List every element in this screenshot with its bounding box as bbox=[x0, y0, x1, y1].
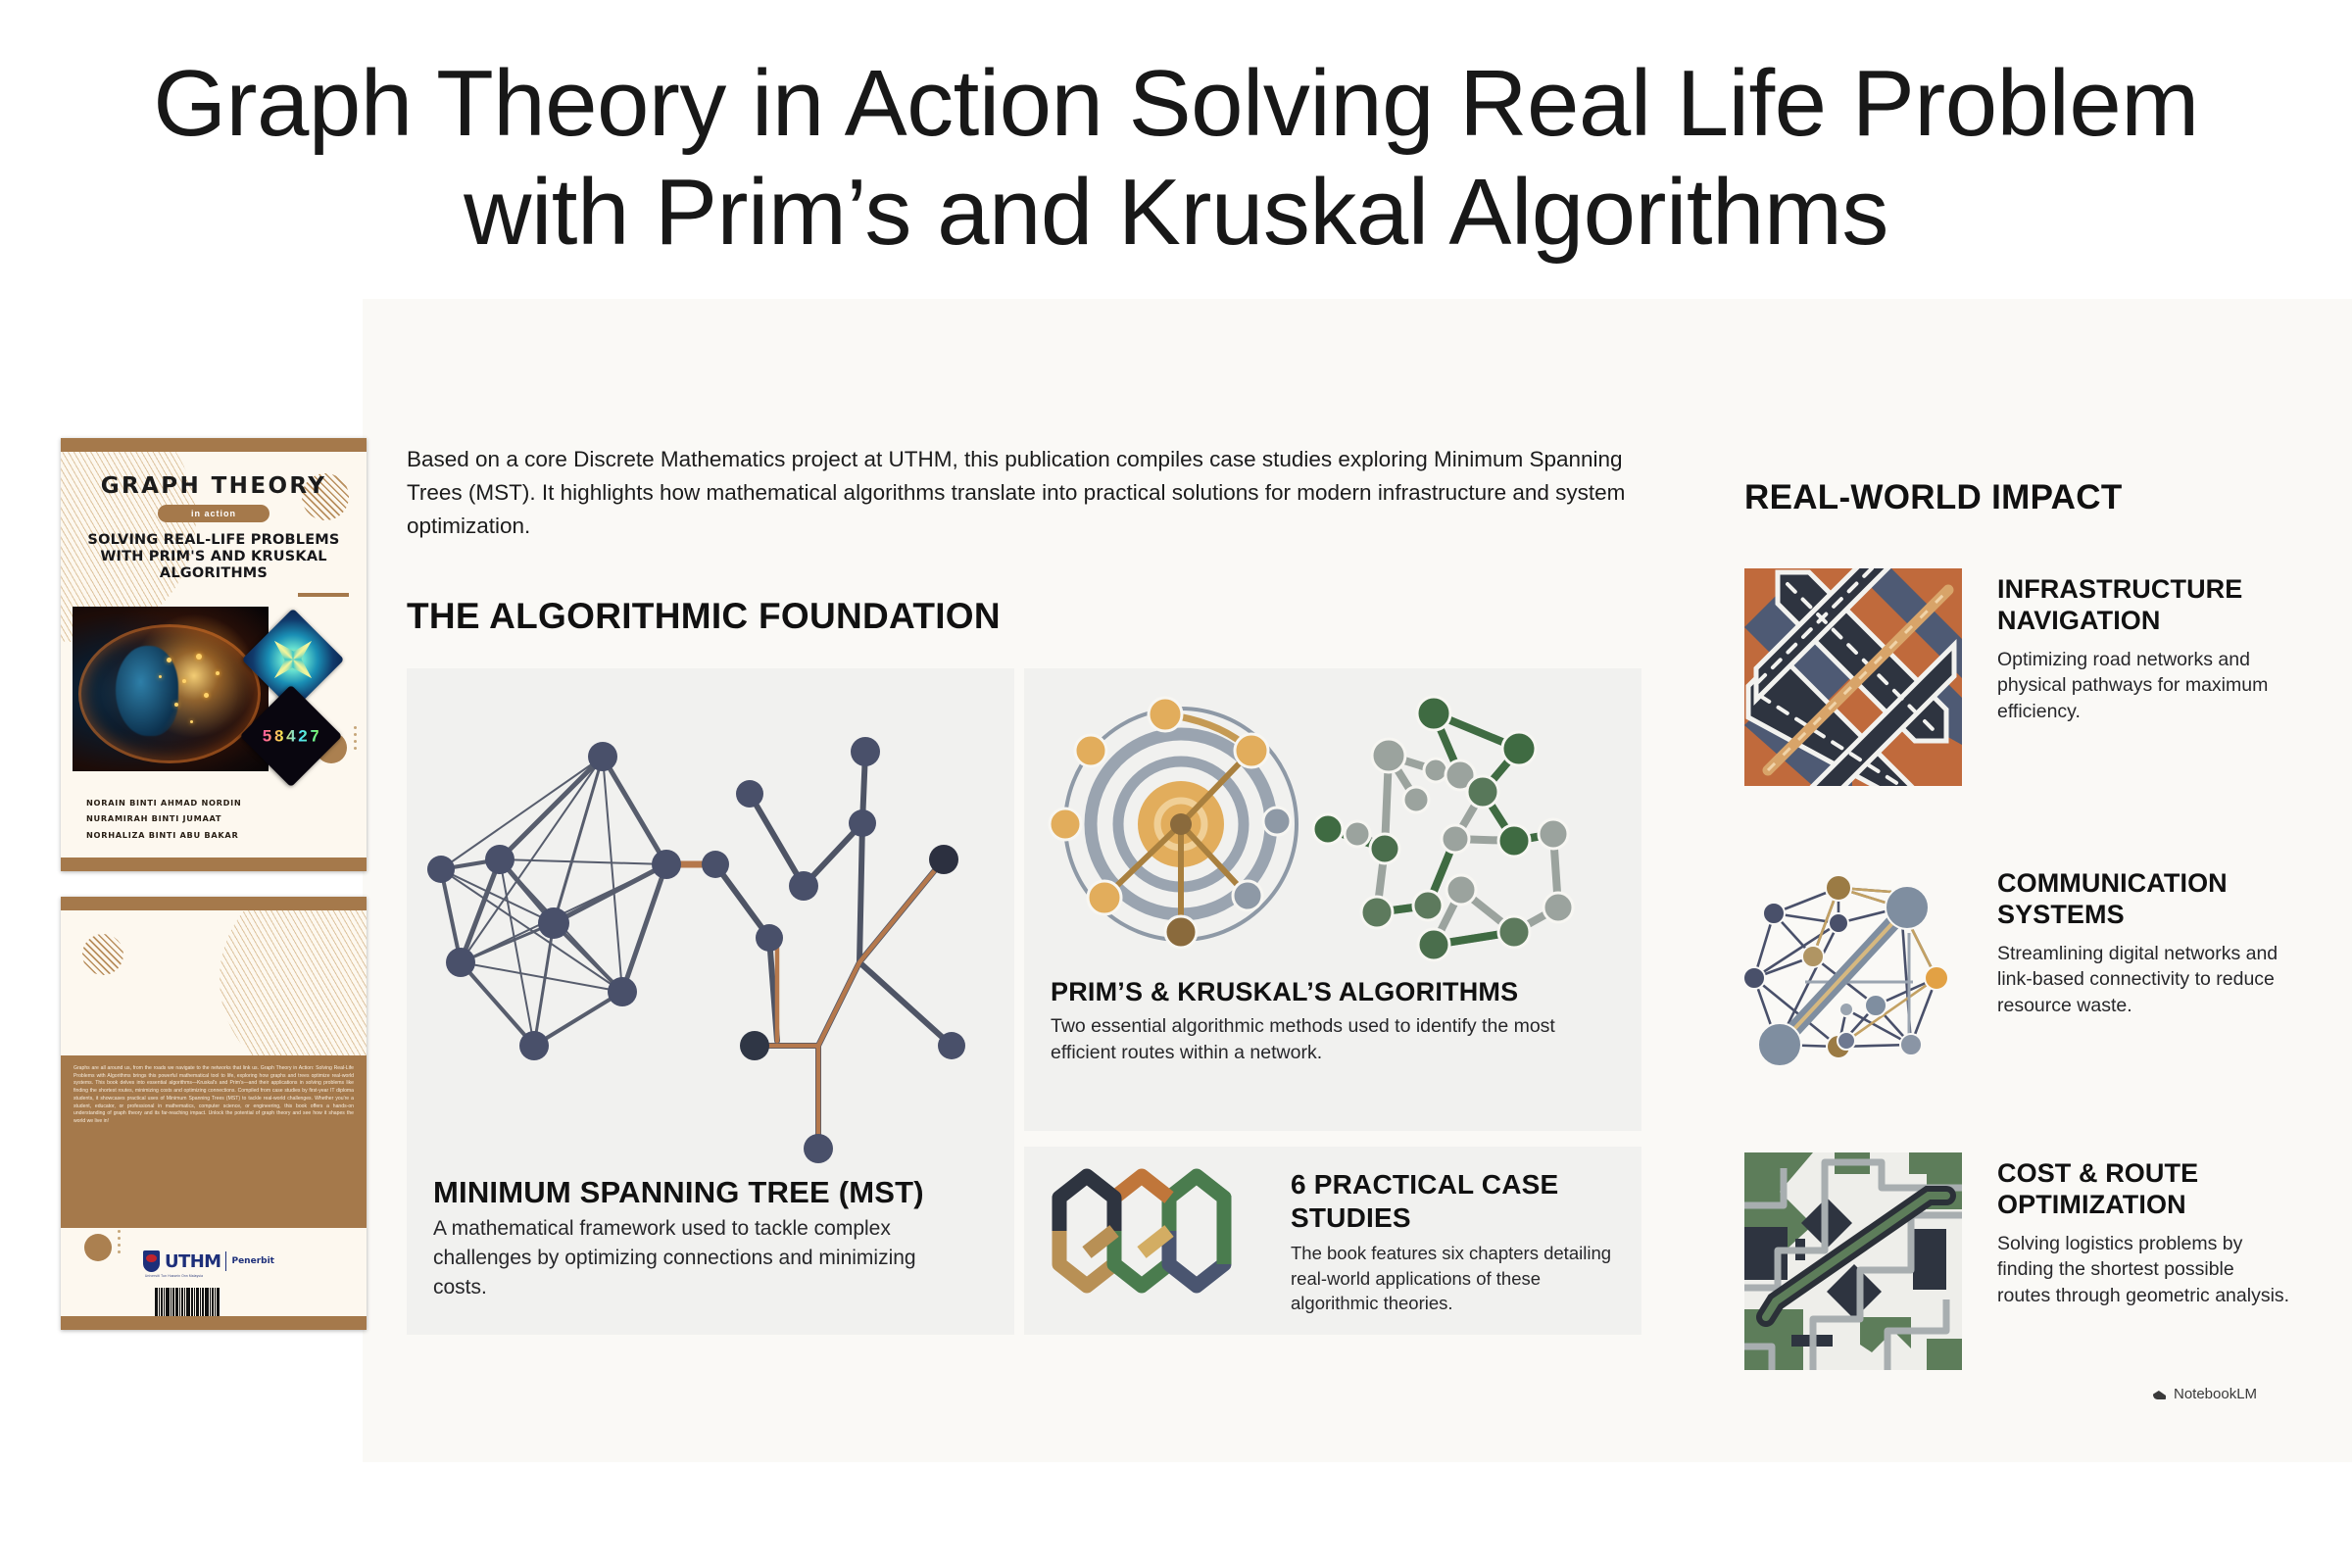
cover-artwork bbox=[73, 607, 269, 771]
author-name: NORHALIZA BINTI ABU BAKAR bbox=[86, 827, 241, 843]
page-title-line-1: Graph Theory in Action Solving Real Life… bbox=[0, 49, 2352, 158]
impact-text-block: COST & ROUTE OPTIMIZATION Solving logist… bbox=[1997, 1158, 2291, 1309]
cover-dots bbox=[354, 726, 357, 750]
author-name: NORAIN BINTI AHMAD NORDIN bbox=[86, 795, 241, 810]
notebooklm-watermark: NotebookLM bbox=[2153, 1386, 2257, 1402]
impact-description: Streamlining digital networks and link-b… bbox=[1997, 941, 2291, 1019]
cover-inner: GRAPH THEORY in action SOLVING REAL-LIFE… bbox=[61, 452, 367, 857]
back-hatch-circle bbox=[82, 934, 123, 975]
cover-pill-in-action: in action bbox=[158, 505, 269, 522]
card-case-studies: 6 PRACTICAL CASE STUDIES The book featur… bbox=[1024, 1147, 1641, 1335]
impact-title: COST & ROUTE OPTIMIZATION bbox=[1997, 1158, 2291, 1221]
card-minimum-spanning-tree: MINIMUM SPANNING TREE (MST) A mathematic… bbox=[407, 668, 1014, 1335]
page-title-line-2: with Prim’s and Kruskal Algorithms bbox=[0, 158, 2352, 267]
back-top-bar bbox=[61, 897, 367, 910]
back-inner: Graphs are all around us, from the roads… bbox=[61, 910, 367, 1316]
impact-text-block: INFRASTRUCTURE NAVIGATION Optimizing roa… bbox=[1997, 574, 2291, 725]
network-graph-icon bbox=[1744, 862, 1962, 1080]
shield-icon bbox=[143, 1250, 160, 1272]
city-map-route-icon bbox=[1744, 1152, 1962, 1370]
book-front-cover: GRAPH THEORY in action SOLVING REAL-LIFE… bbox=[61, 438, 367, 871]
publisher-subtitle: Universiti Tun Hussein Onn Malaysia bbox=[145, 1274, 203, 1278]
chain-links-icon bbox=[1042, 1154, 1287, 1321]
logo-divider bbox=[225, 1251, 226, 1271]
notebooklm-icon bbox=[2153, 1388, 2169, 1400]
cover-top-bar bbox=[61, 438, 367, 452]
card-title-case-studies: 6 PRACTICAL CASE STUDIES bbox=[1291, 1168, 1641, 1235]
back-solid-circle bbox=[84, 1234, 112, 1261]
uthm-wordmark: UTHM bbox=[165, 1251, 220, 1272]
impact-description: Solving logistics problems by finding th… bbox=[1997, 1231, 2291, 1309]
prim-radial-diagram bbox=[1050, 698, 1297, 948]
cover-title: GRAPH THEORY bbox=[61, 473, 367, 499]
impact-text-block: COMMUNICATION SYSTEMS Streamlining digit… bbox=[1997, 868, 2291, 1019]
card-body-prims-kruskals: Two essential algorithmic methods used t… bbox=[1051, 1013, 1599, 1067]
cover-authors: NORAIN BINTI AHMAD NORDIN NURAMIRAH BINT… bbox=[86, 795, 241, 843]
imprint-label: Penerbit bbox=[231, 1256, 273, 1266]
cover-bottom-bar bbox=[61, 857, 367, 871]
card-body-mst: A mathematical framework used to tackle … bbox=[433, 1214, 943, 1301]
page-title: Graph Theory in Action Solving Real Life… bbox=[0, 49, 2352, 268]
cover-rule bbox=[298, 593, 349, 597]
author-name: NURAMIRAH BINTI JUMAAT bbox=[86, 810, 241, 826]
impact-title: INFRASTRUCTURE NAVIGATION bbox=[1997, 574, 2291, 637]
card-title-prims-kruskals: PRIM’S & KRUSKAL’S ALGORITHMS bbox=[1051, 977, 1518, 1007]
impact-title: COMMUNICATION SYSTEMS bbox=[1997, 868, 2291, 931]
notebooklm-label: NotebookLM bbox=[2174, 1386, 2257, 1402]
back-blurb-text: Graphs are all around us, from the roads… bbox=[73, 1065, 354, 1126]
section-heading-real-world-impact: REAL-WORLD IMPACT bbox=[1744, 478, 2123, 517]
back-blurb-panel: Graphs are all around us, from the roads… bbox=[61, 1055, 367, 1228]
kruskal-network-diagram bbox=[1313, 697, 1573, 960]
prims-kruskals-illustration bbox=[1024, 672, 1641, 966]
card-title-mst: MINIMUM SPANNING TREE (MST) bbox=[433, 1175, 924, 1210]
book-back-cover: Graphs are all around us, from the roads… bbox=[61, 897, 367, 1330]
road-network-icon bbox=[1744, 568, 1962, 786]
cover-diamond-digits: 5 8 4 2 7 bbox=[263, 727, 318, 744]
back-dots bbox=[118, 1230, 121, 1253]
cover-subtitle: SOLVING REAL-LIFE PROBLEMS WITH PRIM'S A… bbox=[71, 532, 357, 582]
card-prims-kruskals: PRIM’S & KRUSKAL’S ALGORITHMS Two essent… bbox=[1024, 668, 1641, 1131]
barcode bbox=[155, 1288, 221, 1316]
card-body-case-studies: The book features six chapters detailing… bbox=[1291, 1241, 1614, 1316]
uthm-logo: UTHM Penerbit bbox=[143, 1250, 274, 1272]
section-heading-algorithmic-foundation: THE ALGORITHMIC FOUNDATION bbox=[407, 596, 1001, 637]
back-bottom-bar bbox=[61, 1316, 367, 1330]
mst-graph-illustration bbox=[407, 678, 1014, 1168]
intro-paragraph: Based on a core Discrete Mathematics pro… bbox=[407, 443, 1681, 544]
impact-description: Optimizing road networks and physical pa… bbox=[1997, 647, 2291, 725]
